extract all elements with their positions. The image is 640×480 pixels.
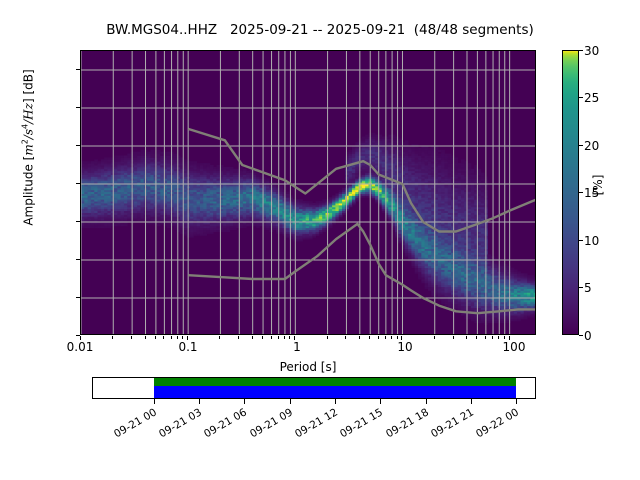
ppsd-canvas <box>81 51 536 335</box>
coverage-tick-mark <box>335 399 336 404</box>
x-tick-mark-minor <box>397 336 398 339</box>
colorbar-tick-mark <box>579 145 583 146</box>
colorbar-tick-label: 20 <box>584 139 614 153</box>
x-tick-mark-minor <box>504 336 505 339</box>
colorbar-tick-label: 30 <box>584 44 614 58</box>
coverage-tick-mark <box>471 399 472 404</box>
x-tick-label: 10 <box>375 340 435 354</box>
x-tick-mark-minor <box>238 336 239 339</box>
coverage-segment-blue <box>154 386 517 399</box>
x-tick-mark-minor <box>434 336 435 339</box>
x-tick-mark <box>80 336 81 340</box>
coverage-tick-mark <box>199 399 200 404</box>
x-tick-mark-minor <box>182 336 183 339</box>
coverage-tick-mark <box>426 399 427 404</box>
x-tick-mark-minor <box>327 336 328 339</box>
colorbar-tick-label: 25 <box>584 91 614 105</box>
x-tick-mark-minor <box>359 336 360 339</box>
x-tick-mark-minor <box>252 336 253 339</box>
colorbar-tick-mark <box>579 50 583 51</box>
colorbar <box>562 50 579 335</box>
x-tick-mark-minor <box>485 336 486 339</box>
coverage-tick-label: 09-21 06 <box>202 406 249 440</box>
coverage-tick-label: 09-21 18 <box>384 406 431 440</box>
colorbar-tick-label: 10 <box>584 234 614 248</box>
x-tick-mark-minor <box>345 336 346 339</box>
colorbar-tick-mark <box>579 287 583 288</box>
coverage-tick-label: 09-21 15 <box>338 406 385 440</box>
coverage-tick-mark <box>290 399 291 404</box>
y-axis-label: Amplitude [m2/s4/Hz] [dB] <box>21 0 36 298</box>
coverage-tick-label: 09-22 00 <box>474 406 521 440</box>
ppsd-figure: BW.MGS04..HHZ 2025-09-21 -- 2025-09-21 (… <box>0 0 640 480</box>
x-tick-label: 100 <box>484 340 544 354</box>
x-tick-mark-minor <box>289 336 290 339</box>
x-tick-mark-minor <box>369 336 370 339</box>
coverage-tick-label: 09-21 00 <box>112 406 159 440</box>
coverage-tick-mark <box>154 399 155 404</box>
data-coverage-bar[interactable] <box>92 377 536 399</box>
ppsd-plot-area[interactable] <box>80 50 536 335</box>
x-tick-mark-minor <box>177 336 178 339</box>
coverage-tick-mark <box>516 399 517 404</box>
x-tick-mark-minor <box>378 336 379 339</box>
colorbar-label: [%] <box>591 145 605 225</box>
colorbar-tick-mark <box>579 240 583 241</box>
x-tick-mark-minor <box>498 336 499 339</box>
x-tick-mark-minor <box>385 336 386 339</box>
x-tick-mark-minor <box>284 336 285 339</box>
x-tick-mark-minor <box>271 336 272 339</box>
psd-density-heatmap <box>81 133 536 325</box>
x-axis-label: Period [s] <box>80 360 536 374</box>
colorbar-tick-label: 15 <box>584 186 614 200</box>
coverage-tick-mark <box>244 399 245 404</box>
colorbar-tick-mark <box>579 97 583 98</box>
x-tick-mark-minor <box>453 336 454 339</box>
x-tick-mark-minor <box>391 336 392 339</box>
x-tick-mark <box>401 336 402 340</box>
page-title: BW.MGS04..HHZ 2025-09-21 -- 2025-09-21 (… <box>0 22 640 38</box>
x-tick-mark-minor <box>155 336 156 339</box>
x-tick-mark-minor <box>145 336 146 339</box>
x-tick-mark-minor <box>466 336 467 339</box>
x-tick-mark-minor <box>131 336 132 339</box>
coverage-tick-label: 09-21 09 <box>248 406 295 440</box>
coverage-segment-green <box>154 378 517 386</box>
x-tick-mark <box>187 336 188 340</box>
x-tick-mark-minor <box>112 336 113 339</box>
colorbar-tick-mark <box>579 192 583 193</box>
x-tick-mark-minor <box>278 336 279 339</box>
colorbar-tick-label: 5 <box>584 281 614 295</box>
coverage-tick-label: 09-21 03 <box>157 406 204 440</box>
x-tick-mark <box>509 336 510 340</box>
x-tick-mark <box>294 336 295 340</box>
x-tick-mark-minor <box>171 336 172 339</box>
coverage-tick-label: 09-21 12 <box>293 406 340 440</box>
x-tick-label: 0.1 <box>158 340 218 354</box>
x-tick-label: 1 <box>267 340 327 354</box>
x-tick-mark-minor <box>476 336 477 339</box>
coverage-tick-mark <box>380 399 381 404</box>
colorbar-tick-mark <box>579 335 583 336</box>
x-tick-label: 0.01 <box>50 340 110 354</box>
coverage-tick-label: 09-21 21 <box>429 406 476 440</box>
x-tick-mark-minor <box>219 336 220 339</box>
x-tick-mark-minor <box>262 336 263 339</box>
x-tick-mark-minor <box>163 336 164 339</box>
colorbar-tick-label: 0 <box>584 329 614 343</box>
x-tick-mark-minor <box>492 336 493 339</box>
